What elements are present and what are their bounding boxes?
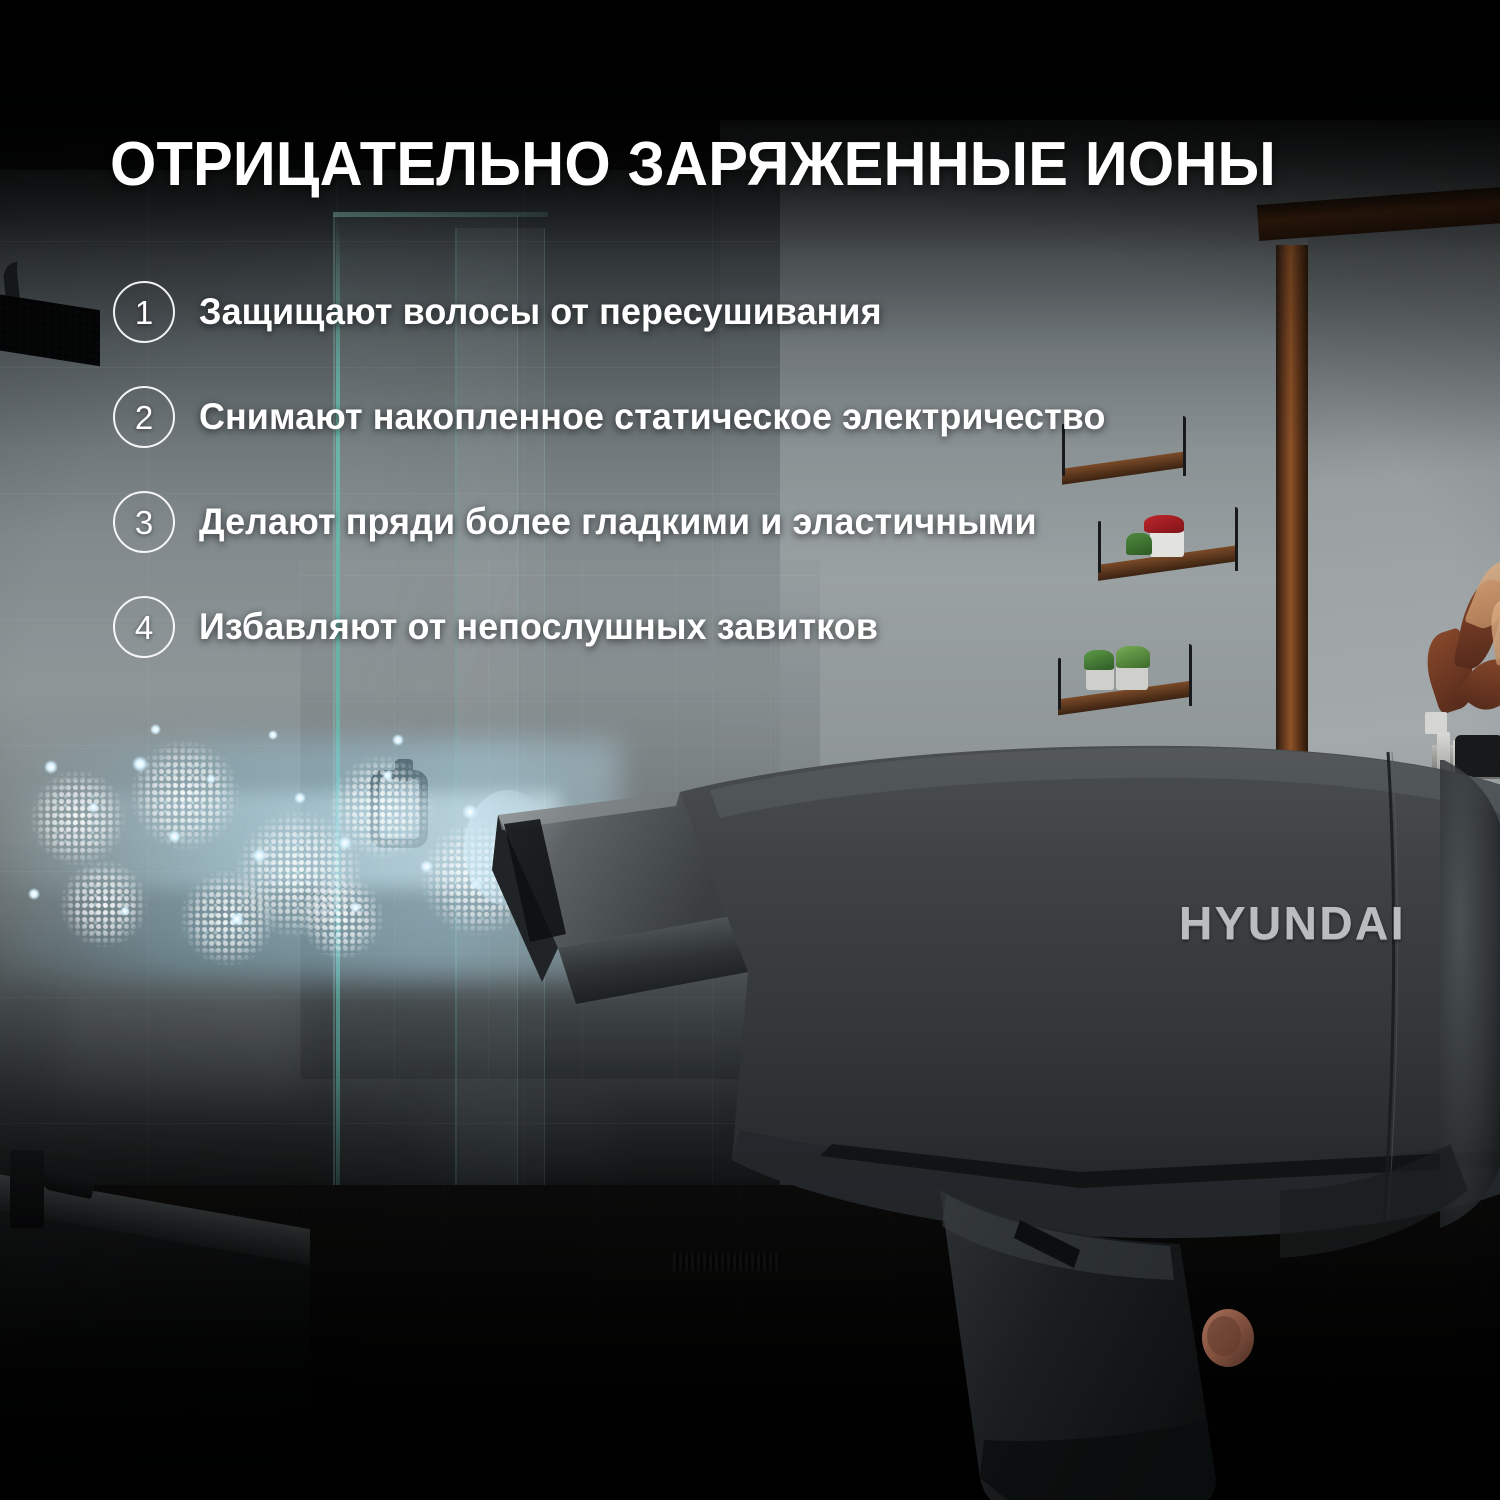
- page-title: ОТРИЦАТЕЛЬНО ЗАРЯЖЕННЫЕ ИОНЫ: [110, 130, 1300, 199]
- list-item: 2 Снимают накопленное статическое электр…: [113, 383, 1403, 451]
- list-number-badge: 2: [113, 386, 175, 448]
- list-number-badge: 3: [113, 491, 175, 553]
- benefits-list: 1 Защищают волосы от пересушивания 2 Сни…: [113, 278, 1403, 698]
- list-item: 1 Защищают волосы от пересушивания: [113, 278, 1403, 346]
- list-number-badge: 1: [113, 281, 175, 343]
- list-item: 3 Делают пряди более гладкими и эластичн…: [113, 488, 1403, 556]
- list-item: 4 Избавляют от непослушных завитков: [113, 593, 1403, 661]
- list-number-badge: 4: [113, 596, 175, 658]
- list-item-label: Защищают волосы от пересушивания: [199, 291, 882, 333]
- list-item-label: Избавляют от непослушных завитков: [199, 606, 878, 648]
- list-item-label: Снимают накопленное статическое электрич…: [199, 396, 1105, 438]
- list-item-label: Делают пряди более гладкими и эластичным…: [199, 501, 1037, 543]
- product-banner: HYUNDAI ОТРИЦАТЕЛЬНО ЗАРЯЖЕННЫЕ ИОНЫ 1 З…: [0, 0, 1500, 1500]
- marketing-copy: ОТРИЦАТЕЛЬНО ЗАРЯЖЕННЫЕ ИОНЫ 1 Защищают …: [0, 0, 1500, 1500]
